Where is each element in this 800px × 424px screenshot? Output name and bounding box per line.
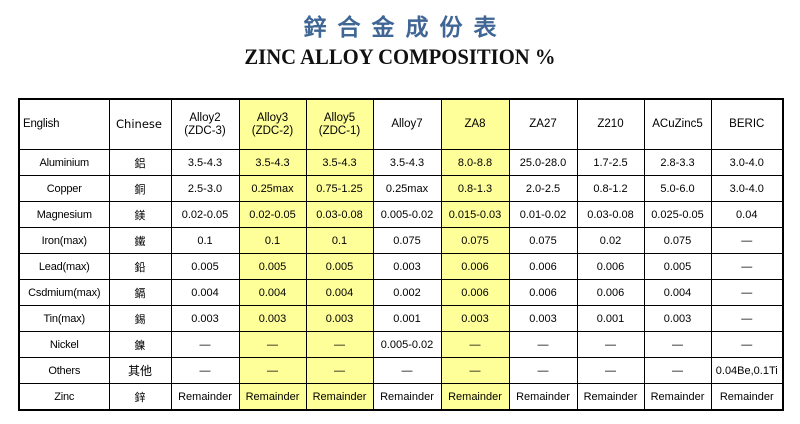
cell-za8-tinmax: 0.003: [441, 306, 509, 332]
column-header-alloy3: Alloy3(ZDC-2): [239, 99, 306, 150]
cell-beric-ironmax: —: [711, 228, 783, 254]
cell-acuzinc5-aluminium: 2.8-3.3: [644, 150, 711, 176]
cell-alloy2-aluminium: 3.5-4.3: [171, 150, 239, 176]
cell-za27-csdmiummax: 0.006: [509, 280, 577, 306]
column-header-name: ACuZinc5: [647, 118, 709, 131]
cell-alloy7-others: —: [373, 358, 441, 384]
table-row: Magnesium鎂0.02-0.050.02-0.050.03-0.080.0…: [19, 202, 783, 228]
column-header-name: Z210: [580, 118, 642, 131]
cell-alloy3-ironmax: 0.1: [239, 228, 306, 254]
cell-alloy3-copper: 0.25max: [239, 176, 306, 202]
cell-alloy5-copper: 0.75-1.25: [306, 176, 373, 202]
cell-beric-csdmiummax: —: [711, 280, 783, 306]
table-row: Tin(max)錫0.0030.0030.0030.0010.0030.0030…: [19, 306, 783, 332]
row-label-chinese: 銅: [109, 176, 171, 202]
cell-beric-copper: 3.0-4.0: [711, 176, 783, 202]
column-header-code: (ZDC-3): [174, 125, 237, 138]
cell-alloy3-leadmax: 0.005: [239, 254, 306, 280]
column-header-name: Alloy5: [309, 112, 371, 125]
column-header-z210: Z210: [577, 99, 644, 150]
row-label-chinese: 鎳: [109, 332, 171, 358]
cell-alloy2-copper: 2.5-3.0: [171, 176, 239, 202]
cell-alloy2-tinmax: 0.003: [171, 306, 239, 332]
row-label-chinese: 鋁: [109, 150, 171, 176]
cell-beric-zinc: Remainder: [711, 384, 783, 411]
column-header-name: English: [23, 118, 107, 131]
cell-alloy2-nickel: —: [171, 332, 239, 358]
table-row: Csdmium(max)鎘0.0040.0040.0040.0020.0060.…: [19, 280, 783, 306]
cell-beric-others: 0.04Be,0.1Ti: [711, 358, 783, 384]
title-block: 鋅合金成份表 ZINC ALLOY COMPOSITION %: [0, 0, 800, 70]
cell-acuzinc5-nickel: —: [644, 332, 711, 358]
cell-alloy5-zinc: Remainder: [306, 384, 373, 411]
cell-za27-others: —: [509, 358, 577, 384]
page-title-chinese: 鋅合金成份表: [11, 14, 800, 42]
column-header-za27: ZA27: [509, 99, 577, 150]
column-header-name: Chinese: [110, 118, 169, 131]
row-label-chinese: 鋅: [109, 384, 171, 411]
cell-z210-zinc: Remainder: [577, 384, 644, 411]
cell-alloy3-magnesium: 0.02-0.05: [239, 202, 306, 228]
column-header-name: ZA8: [444, 118, 507, 131]
cell-alloy3-others: —: [239, 358, 306, 384]
cell-alloy7-nickel: 0.005-0.02: [373, 332, 441, 358]
cell-za27-copper: 2.0-2.5: [509, 176, 577, 202]
cell-za27-ironmax: 0.075: [509, 228, 577, 254]
row-label-english: Others: [19, 358, 109, 384]
column-header-code: (ZDC-2): [242, 125, 304, 138]
cell-za27-tinmax: 0.003: [509, 306, 577, 332]
row-label-english: Zinc: [19, 384, 109, 411]
cell-acuzinc5-zinc: Remainder: [644, 384, 711, 411]
column-header-name: BERIC: [714, 118, 781, 131]
cell-za8-leadmax: 0.006: [441, 254, 509, 280]
table-header-row: EnglishChineseAlloy2(ZDC-3)Alloy3(ZDC-2)…: [19, 99, 783, 150]
cell-alloy2-zinc: Remainder: [171, 384, 239, 411]
cell-beric-nickel: —: [711, 332, 783, 358]
cell-alloy5-aluminium: 3.5-4.3: [306, 150, 373, 176]
row-label-chinese: 鎂: [109, 202, 171, 228]
cell-acuzinc5-leadmax: 0.005: [644, 254, 711, 280]
row-label-english: Iron(max): [19, 228, 109, 254]
column-header-english: English: [19, 99, 109, 150]
table-row: Zinc鋅RemainderRemainderRemainderRemainde…: [19, 384, 783, 411]
column-header-alloy7: Alloy7: [373, 99, 441, 150]
cell-beric-aluminium: 3.0-4.0: [711, 150, 783, 176]
cell-alloy3-csdmiummax: 0.004: [239, 280, 306, 306]
cell-za27-zinc: Remainder: [509, 384, 577, 411]
cell-z210-magnesium: 0.03-0.08: [577, 202, 644, 228]
cell-alloy2-others: —: [171, 358, 239, 384]
row-label-chinese: 鎘: [109, 280, 171, 306]
cell-alloy5-csdmiummax: 0.004: [306, 280, 373, 306]
cell-alloy7-copper: 0.25max: [373, 176, 441, 202]
row-label-english: Magnesium: [19, 202, 109, 228]
cell-z210-aluminium: 1.7-2.5: [577, 150, 644, 176]
table-row: Lead(max)鉛0.0050.0050.0050.0030.0060.006…: [19, 254, 783, 280]
column-header-acuzinc5: ACuZinc5: [644, 99, 711, 150]
column-header-alloy5: Alloy5(ZDC-1): [306, 99, 373, 150]
column-header-chinese: Chinese: [109, 99, 171, 150]
cell-z210-copper: 0.8-1.2: [577, 176, 644, 202]
page-title-english: ZINC ALLOY COMPOSITION %: [24, 44, 776, 70]
column-header-beric: BERIC: [711, 99, 783, 150]
cell-alloy7-aluminium: 3.5-4.3: [373, 150, 441, 176]
row-label-chinese: 鉛: [109, 254, 171, 280]
row-label-english: Aluminium: [19, 150, 109, 176]
cell-alloy5-nickel: —: [306, 332, 373, 358]
cell-alloy5-magnesium: 0.03-0.08: [306, 202, 373, 228]
cell-z210-nickel: —: [577, 332, 644, 358]
cell-za27-nickel: —: [509, 332, 577, 358]
column-header-name: Alloy7: [376, 118, 439, 131]
zinc-alloy-composition-table: EnglishChineseAlloy2(ZDC-3)Alloy3(ZDC-2)…: [18, 98, 784, 411]
cell-za8-magnesium: 0.015-0.03: [441, 202, 509, 228]
cell-acuzinc5-copper: 5.0-6.0: [644, 176, 711, 202]
table-row: Nickel鎳———0.005-0.02—————: [19, 332, 783, 358]
cell-acuzinc5-csdmiummax: 0.004: [644, 280, 711, 306]
table-row: Aluminium鋁3.5-4.33.5-4.33.5-4.33.5-4.38.…: [19, 150, 783, 176]
cell-alloy3-nickel: —: [239, 332, 306, 358]
cell-za8-ironmax: 0.075: [441, 228, 509, 254]
cell-alloy3-aluminium: 3.5-4.3: [239, 150, 306, 176]
cell-alloy2-ironmax: 0.1: [171, 228, 239, 254]
cell-za8-csdmiummax: 0.006: [441, 280, 509, 306]
cell-beric-tinmax: —: [711, 306, 783, 332]
cell-alloy5-ironmax: 0.1: [306, 228, 373, 254]
cell-alloy3-tinmax: 0.003: [239, 306, 306, 332]
table-row: Iron(max)鐵0.10.10.10.0750.0750.0750.020.…: [19, 228, 783, 254]
row-label-english: Nickel: [19, 332, 109, 358]
cell-alloy3-zinc: Remainder: [239, 384, 306, 411]
cell-beric-magnesium: 0.04: [711, 202, 783, 228]
cell-alloy2-magnesium: 0.02-0.05: [171, 202, 239, 228]
cell-acuzinc5-magnesium: 0.025-0.05: [644, 202, 711, 228]
cell-za8-aluminium: 8.0-8.8: [441, 150, 509, 176]
cell-za8-others: —: [441, 358, 509, 384]
row-label-english: Copper: [19, 176, 109, 202]
row-label-english: Csdmium(max): [19, 280, 109, 306]
cell-alloy5-leadmax: 0.005: [306, 254, 373, 280]
table-row: Others其他————————0.04Be,0.1Ti: [19, 358, 783, 384]
cell-za27-aluminium: 25.0-28.0: [509, 150, 577, 176]
row-label-chinese: 錫: [109, 306, 171, 332]
cell-beric-leadmax: —: [711, 254, 783, 280]
cell-alloy7-zinc: Remainder: [373, 384, 441, 411]
cell-z210-leadmax: 0.006: [577, 254, 644, 280]
cell-acuzinc5-others: —: [644, 358, 711, 384]
row-label-chinese: 鐵: [109, 228, 171, 254]
row-label-english: Lead(max): [19, 254, 109, 280]
cell-za27-leadmax: 0.006: [509, 254, 577, 280]
row-label-chinese: 其他: [109, 358, 171, 384]
column-header-name: ZA27: [512, 118, 575, 131]
cell-alloy7-leadmax: 0.003: [373, 254, 441, 280]
cell-alloy5-tinmax: 0.003: [306, 306, 373, 332]
cell-alloy2-csdmiummax: 0.004: [171, 280, 239, 306]
cell-za8-zinc: Remainder: [441, 384, 509, 411]
column-header-name: Alloy3: [242, 112, 304, 125]
cell-alloy7-tinmax: 0.001: [373, 306, 441, 332]
cell-alloy7-magnesium: 0.005-0.02: [373, 202, 441, 228]
cell-za27-magnesium: 0.01-0.02: [509, 202, 577, 228]
composition-table-container: EnglishChineseAlloy2(ZDC-3)Alloy3(ZDC-2)…: [18, 98, 782, 401]
table-row: Copper銅2.5-3.00.25max0.75-1.250.25max0.8…: [19, 176, 783, 202]
cell-za8-copper: 0.8-1.3: [441, 176, 509, 202]
cell-z210-ironmax: 0.02: [577, 228, 644, 254]
column-header-code: (ZDC-1): [309, 125, 371, 138]
column-header-alloy2: Alloy2(ZDC-3): [171, 99, 239, 150]
cell-z210-csdmiummax: 0.006: [577, 280, 644, 306]
row-label-english: Tin(max): [19, 306, 109, 332]
column-header-za8: ZA8: [441, 99, 509, 150]
cell-za8-nickel: —: [441, 332, 509, 358]
cell-alloy2-leadmax: 0.005: [171, 254, 239, 280]
cell-alloy5-others: —: [306, 358, 373, 384]
cell-acuzinc5-tinmax: 0.003: [644, 306, 711, 332]
cell-alloy7-csdmiummax: 0.002: [373, 280, 441, 306]
cell-acuzinc5-ironmax: 0.075: [644, 228, 711, 254]
cell-z210-tinmax: 0.001: [577, 306, 644, 332]
column-header-name: Alloy2: [174, 112, 237, 125]
cell-z210-others: —: [577, 358, 644, 384]
cell-alloy7-ironmax: 0.075: [373, 228, 441, 254]
